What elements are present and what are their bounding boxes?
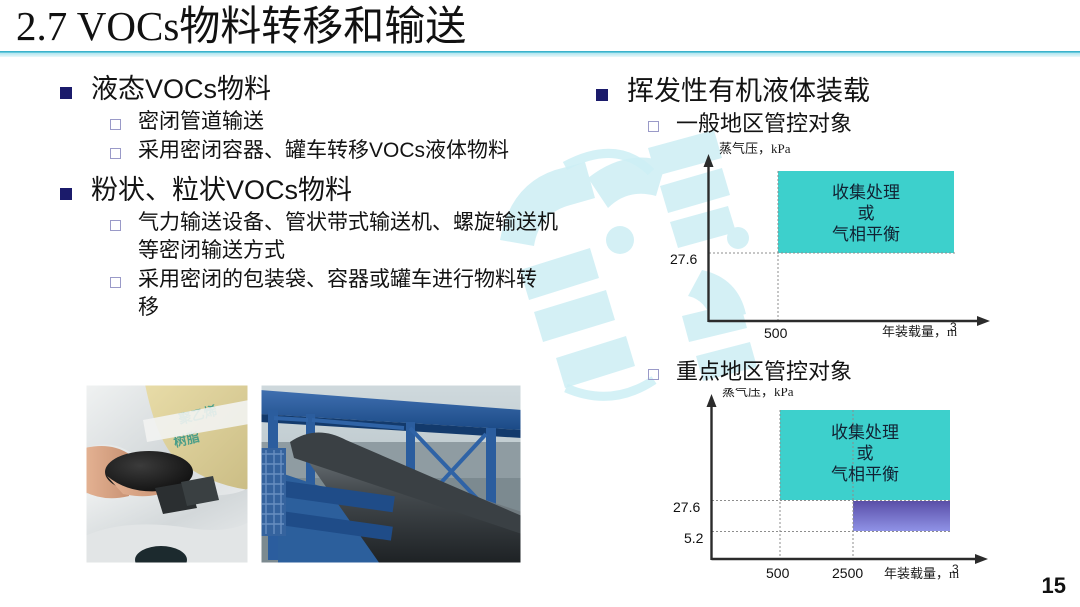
tubular-belt-conveyor-photo — [260, 384, 522, 564]
chart2-region-label-line3: 气相平衡 — [831, 465, 899, 484]
hollow-square-bullet-icon — [110, 148, 121, 159]
chart2-x-tick-2500: 2500 — [832, 565, 863, 581]
chart1-x-axis-label: 年装载量，m — [882, 324, 957, 339]
chart1-region-label-line2: 或 — [858, 204, 875, 223]
chart1-x-tick-500: 500 — [764, 325, 788, 340]
sublist-powder-vocs: 气力输送设备、管状带式输送机、螺旋输送机等密闭输送方式 采用密闭的包装袋、容器或… — [110, 209, 580, 322]
list-item: 气力输送设备、管状带式输送机、螺旋输送机等密闭输送方式 — [110, 209, 580, 265]
chart2-y-axis-arrow-icon — [707, 394, 717, 407]
slide: 2.7 VOCs物料转移和输送 液态VOCs物料 密闭管道输送 采用密闭容器、罐… — [0, 0, 1080, 607]
bullet-heading: 液态VOCs物料 — [91, 72, 271, 106]
list-item-label: 密闭管道输送 — [138, 108, 264, 136]
list-item-label: 采用密闭的包装袋、容器或罐车进行物料转移 — [138, 266, 538, 322]
sublist-liquid-vocs: 密闭管道输送 采用密闭容器、罐车转移VOCs液体物料 — [110, 108, 580, 165]
chart2-region-label-line1: 收集处理 — [831, 423, 899, 442]
chart2-x-tick-500: 500 — [766, 565, 790, 581]
chart1-region-label-line3: 气相平衡 — [832, 225, 900, 244]
list-item: 一般地区管控对象 — [648, 110, 1056, 138]
list-item: 采用密闭容器、罐车转移VOCs液体物料 — [110, 137, 580, 165]
square-bullet-icon — [60, 188, 72, 200]
list-item-label: 重点地区管控对象 — [676, 358, 852, 386]
list-item-label: 一般地区管控对象 — [676, 110, 852, 138]
title-underline-glow — [0, 54, 1080, 57]
chart2-secondary-region — [853, 501, 950, 531]
bullet-group-liquid-vocs: 液态VOCs物料 — [60, 72, 580, 106]
bullet-group-volatile-liquid-loading: 挥发性有机液体装载 — [596, 74, 1056, 108]
chart1-x-axis-arrow-icon — [977, 316, 990, 326]
list-item: 重点地区管控对象 — [648, 358, 852, 386]
chart2-x-axis-arrow-icon — [975, 554, 988, 564]
key-area-control-chart: 蒸气压，kPa 年装载量，m 3 27.6 5.2 500 2500 收集处理 … — [662, 388, 1002, 596]
hollow-square-bullet-icon — [110, 220, 121, 231]
general-area-control-chart: 蒸气压，kPa 年装载量，m 3 27.6 500 收集处理 或 气相平衡 — [660, 140, 1000, 340]
chart2-x-axis-label: 年装载量，m — [884, 566, 959, 581]
list-item: 密闭管道输送 — [110, 108, 580, 136]
hollow-square-bullet-icon — [110, 277, 121, 288]
hollow-square-bullet-icon — [648, 121, 659, 132]
right-content-column: 挥发性有机液体装载 一般地区管控对象 — [596, 74, 1056, 139]
list-item-label: 气力输送设备、管状带式输送机、螺旋输送机等密闭输送方式 — [138, 209, 568, 265]
chart2-x-axis-label-sup: 3 — [952, 562, 959, 576]
bullet-group-powder-vocs: 粉状、粒状VOCs物料 — [60, 173, 580, 207]
black-granular-material-in-bags-photo: 聚乙烯 树脂 — [85, 384, 249, 564]
chart1-y-axis-label: 蒸气压，kPa — [719, 141, 791, 156]
chart2-y-tick-27-6: 27.6 — [673, 499, 700, 515]
page-number: 15 — [1042, 573, 1066, 599]
chart1-y-tick-27-6: 27.6 — [670, 251, 697, 267]
chart1-y-axis-arrow-icon — [704, 154, 714, 167]
square-bullet-icon — [596, 89, 608, 101]
list-item: 采用密闭的包装袋、容器或罐车进行物料转移 — [110, 266, 580, 322]
list-item-label: 采用密闭容器、罐车转移VOCs液体物料 — [138, 137, 509, 165]
page-title: 2.7 VOCs物料转移和输送 — [16, 2, 466, 50]
square-bullet-icon — [60, 87, 72, 99]
bullet-heading: 粉状、粒状VOCs物料 — [91, 173, 352, 207]
chart1-x-axis-label-sup: 3 — [950, 320, 957, 334]
chart1-region-label-line1: 收集处理 — [832, 183, 900, 202]
hollow-square-bullet-icon — [110, 119, 121, 130]
chart2-y-axis-label: 蒸气压，kPa — [722, 388, 794, 399]
bullet-heading: 挥发性有机液体装载 — [627, 74, 870, 108]
subheading-key-area: 重点地区管控对象 — [648, 358, 852, 387]
chart2-region-label-line2: 或 — [857, 444, 874, 463]
left-content-column: 液态VOCs物料 密闭管道输送 采用密闭容器、罐车转移VOCs液体物料 粉状、粒… — [60, 72, 580, 323]
hollow-square-bullet-icon — [648, 369, 659, 380]
subheading-general-area: 一般地区管控对象 — [648, 110, 1056, 138]
chart2-y-tick-5-2: 5.2 — [684, 530, 704, 546]
